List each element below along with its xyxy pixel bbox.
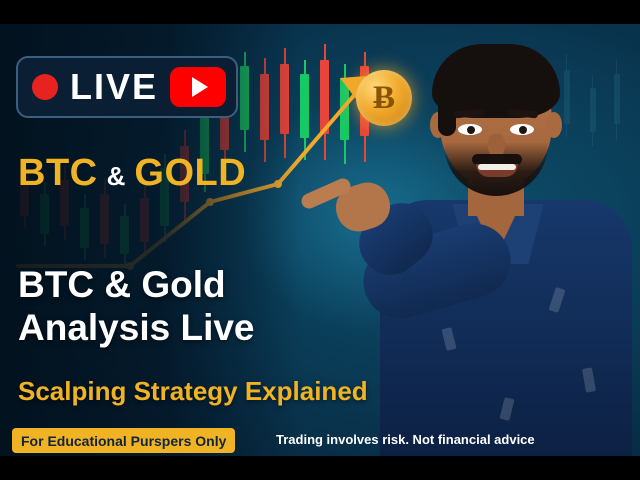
main-title: BTC & Gold Analysis Live <box>18 264 255 350</box>
presenter-photo <box>352 38 640 456</box>
headline-word-btc: BTC <box>18 152 98 195</box>
thumbnail-canvas: Ƀ <box>0 24 640 456</box>
educational-badge: For Educational Purspers Only <box>12 428 235 453</box>
educational-label: For Educational Purspers Only <box>21 433 226 449</box>
title-line-2: Analysis Live <box>18 307 255 350</box>
letterbox-bottom <box>0 456 640 480</box>
live-label: LIVE <box>70 69 158 105</box>
btc-gold-headline: BTC & GOLD <box>18 152 246 195</box>
pupil-right <box>519 126 527 134</box>
letterbox-top <box>0 0 640 24</box>
pupil-left <box>467 126 475 134</box>
title-line-1: BTC & Gold <box>18 264 255 307</box>
hair <box>432 44 560 118</box>
headline-word-gold: GOLD <box>134 152 246 195</box>
headline-word-amp: & <box>107 161 126 192</box>
ear-right <box>546 112 562 138</box>
subtitle: Scalping Strategy Explained <box>18 376 368 407</box>
youtube-play-icon <box>170 67 226 107</box>
record-dot-icon <box>32 74 58 100</box>
disclaimer-text: Trading involves risk. Not financial adv… <box>276 432 535 447</box>
thumbnail-image: Ƀ <box>0 0 640 480</box>
live-badge: LIVE <box>16 56 238 118</box>
teeth <box>478 164 516 170</box>
